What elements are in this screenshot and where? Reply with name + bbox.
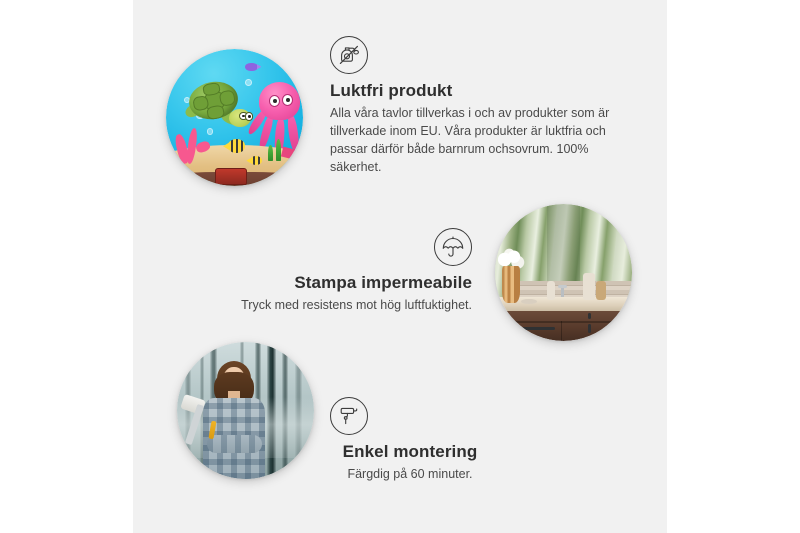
treasure-chest bbox=[215, 168, 247, 185]
feature-2-body: Tryck med resistens mot hög luftfuktighe… bbox=[214, 296, 472, 314]
octopus-head bbox=[259, 82, 300, 120]
feature-2-title: Stampa impermeabile bbox=[214, 273, 472, 293]
feature-stampa-impermeabile: Stampa impermeabile Tryck med resistens … bbox=[214, 228, 472, 314]
feature-1-title: Luktfri produkt bbox=[330, 81, 626, 101]
turtle-head bbox=[229, 109, 251, 127]
cabinet-handle bbox=[588, 313, 591, 320]
feature-enkel-montering: Enkel montering Färgdig på 60 minuter. bbox=[300, 397, 520, 483]
screenshot-root: Luktfri produkt Alla våra tavlor tillver… bbox=[0, 0, 800, 533]
feature-luktfri-produkt: Luktfri produkt Alla våra tavlor tillver… bbox=[330, 36, 626, 177]
cabinet-handle bbox=[588, 324, 591, 333]
no-fragrance-icon bbox=[330, 36, 368, 74]
canister bbox=[583, 273, 595, 300]
canister bbox=[596, 281, 606, 300]
ribbed-vase bbox=[502, 266, 520, 303]
soap-dish bbox=[521, 299, 537, 304]
feature-1-icon-row bbox=[330, 36, 626, 74]
seaweed bbox=[276, 139, 281, 161]
octopus-eye bbox=[282, 94, 293, 106]
feature-3-title: Enkel montering bbox=[300, 442, 520, 462]
woman-paint-roller-forest-circle bbox=[177, 342, 314, 479]
woman-crossed-arms bbox=[207, 435, 262, 453]
octopus-eye bbox=[269, 95, 280, 107]
bathroom-leaf-wallpaper-circle bbox=[495, 204, 632, 341]
underwater-cartoon-circle bbox=[166, 49, 303, 186]
turtle-eye bbox=[245, 112, 254, 120]
feature-3-body: Färgdig på 60 minuter. bbox=[300, 465, 520, 483]
seaweed bbox=[268, 145, 273, 161]
feature-3-icon-row bbox=[300, 397, 520, 435]
umbrella-icon bbox=[434, 228, 472, 266]
feature-1-body: Alla våra tavlor tillverkas i och av pro… bbox=[330, 104, 626, 177]
wooden-vanity bbox=[500, 311, 632, 341]
drawer-handle bbox=[522, 327, 555, 330]
paint-roller-icon bbox=[330, 397, 368, 435]
bubble-icon bbox=[207, 128, 213, 134]
feature-2-icon-row bbox=[214, 228, 472, 266]
canister bbox=[547, 281, 555, 300]
purple-fish bbox=[245, 63, 257, 71]
